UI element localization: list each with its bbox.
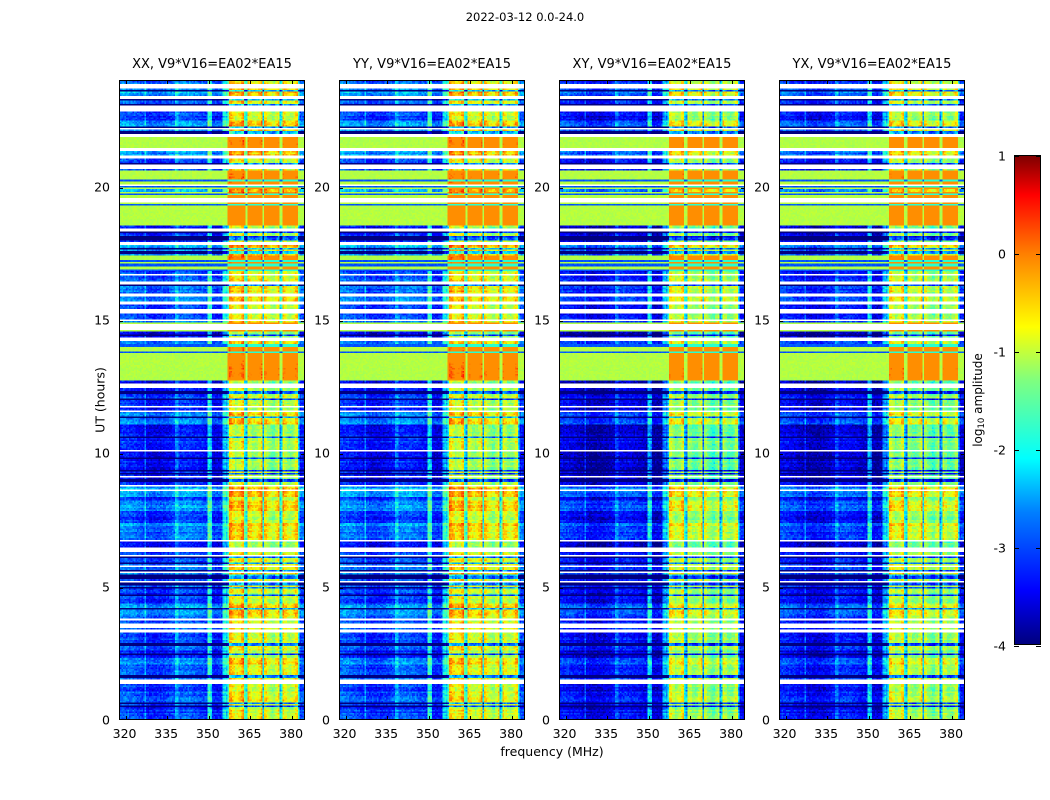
colorbar-tick-label: 0 [998, 247, 1006, 262]
x-tick-mark-top [607, 80, 608, 84]
y-tick-label: 10 [534, 446, 550, 461]
x-tick-mark-top [429, 80, 430, 84]
y-tick-mark [339, 321, 343, 322]
panel-yy[interactable]: YY, V9*V16=EA02*EA15 3203353503653800510… [339, 80, 525, 720]
y-tick-label: 20 [94, 179, 110, 194]
panel-xx[interactable]: XX, V9*V16=EA02*EA15 3203353503653800510… [119, 80, 305, 720]
y-tick-mark-right [521, 321, 525, 322]
colorbar-tick-label: 1 [998, 149, 1006, 164]
y-tick-mark [779, 588, 783, 589]
y-tick-mark [339, 588, 343, 589]
panel-title-yx: YX, V9*V16=EA02*EA15 [793, 57, 952, 72]
colorbar-tick-label: -2 [994, 443, 1006, 458]
y-tick-mark [779, 454, 783, 455]
y-tick-label: 20 [314, 179, 330, 194]
axes-xy[interactable] [559, 80, 745, 720]
colorbar-tick-label: -4 [994, 639, 1006, 654]
y-tick-label: 0 [542, 713, 550, 728]
y-tick-mark [779, 321, 783, 322]
y-tick-mark-right [521, 588, 525, 589]
x-tick-label: 380 [719, 726, 743, 741]
x-tick-label: 365 [458, 726, 482, 741]
y-tick-label: 20 [534, 179, 550, 194]
x-tick-mark-top [292, 80, 293, 84]
axes-xx[interactable] [119, 80, 305, 720]
x-tick-label: 320 [553, 726, 577, 741]
waterfall-image-yx [780, 81, 964, 719]
colorbar-tick-mark [1014, 254, 1019, 255]
x-tick-mark [649, 716, 650, 720]
y-tick-label: 15 [94, 313, 110, 328]
y-tick-mark-right [741, 321, 745, 322]
x-tick-label: 350 [856, 726, 880, 741]
x-tick-mark-top [690, 80, 691, 84]
colorbar-tick-label: -1 [994, 345, 1006, 360]
colorbar-tick-mark-right [1036, 254, 1041, 255]
x-tick-mark-top [346, 80, 347, 84]
y-tick-mark [559, 588, 563, 589]
colorbar-tick-mark [1014, 352, 1019, 353]
y-tick-label: 10 [314, 446, 330, 461]
x-tick-mark [952, 716, 953, 720]
x-tick-mark [387, 716, 388, 720]
waterfall-image-yy [340, 81, 524, 719]
colorbar-tick-mark-right [1036, 548, 1041, 549]
y-tick-mark-right [521, 188, 525, 189]
panel-yx[interactable]: YX, V9*V16=EA02*EA15 3203353503653800510… [779, 80, 965, 720]
y-tick-mark [119, 454, 123, 455]
x-tick-label: 365 [238, 726, 262, 741]
x-tick-mark-top [209, 80, 210, 84]
x-tick-mark-top [250, 80, 251, 84]
x-tick-label: 350 [636, 726, 660, 741]
y-tick-label: 0 [102, 713, 110, 728]
y-tick-label: 20 [754, 179, 770, 194]
colorbar-tick-mark [1014, 548, 1019, 549]
y-tick-mark [339, 188, 343, 189]
colorbar-tick-mark-right [1036, 646, 1041, 647]
x-tick-label: 350 [196, 726, 220, 741]
x-tick-mark-top [470, 80, 471, 84]
colorbar-label: log10 amplitude [971, 353, 987, 447]
y-axis-label: UT (hours) [93, 367, 108, 433]
y-tick-label: 10 [94, 446, 110, 461]
x-tick-mark [292, 716, 293, 720]
y-tick-mark [559, 321, 563, 322]
y-tick-label: 15 [534, 313, 550, 328]
colorbar-tick-label: -3 [994, 541, 1006, 556]
y-tick-mark [779, 188, 783, 189]
y-tick-mark-right [301, 454, 305, 455]
x-tick-mark-top [786, 80, 787, 84]
colorbar-tick-mark-right [1036, 352, 1041, 353]
x-tick-label: 320 [113, 726, 137, 741]
y-tick-mark-right [741, 454, 745, 455]
y-tick-mark-right [961, 454, 965, 455]
colorbar-label-tail: amplitude [971, 353, 985, 417]
x-tick-label: 365 [678, 726, 702, 741]
panel-title-xx: XX, V9*V16=EA02*EA15 [132, 57, 292, 72]
x-tick-label: 320 [773, 726, 797, 741]
x-tick-mark [827, 716, 828, 720]
y-tick-mark [119, 321, 123, 322]
x-tick-mark [429, 716, 430, 720]
x-tick-mark-top [910, 80, 911, 84]
x-tick-label: 365 [898, 726, 922, 741]
x-tick-mark-top [732, 80, 733, 84]
colorbar-tick-mark [1014, 156, 1019, 157]
colorbar-label-sub: 10 [977, 418, 987, 429]
colorbar-tick-mark [1014, 450, 1019, 451]
colorbar-tick-mark [1014, 646, 1019, 647]
y-tick-mark-right [301, 588, 305, 589]
y-tick-label: 10 [754, 446, 770, 461]
y-tick-label: 0 [762, 713, 770, 728]
x-tick-label: 335 [374, 726, 398, 741]
y-tick-label: 5 [762, 579, 770, 594]
x-tick-label: 335 [814, 726, 838, 741]
panel-xy[interactable]: XY, V9*V16=EA02*EA15 3203353503653800510… [559, 80, 745, 720]
x-tick-mark [167, 716, 168, 720]
colorbar-tick-mark-right [1036, 156, 1041, 157]
x-tick-mark [512, 716, 513, 720]
y-tick-mark-right [961, 321, 965, 322]
x-tick-label: 350 [416, 726, 440, 741]
x-tick-mark [470, 716, 471, 720]
x-tick-mark [250, 716, 251, 720]
x-tick-mark-top [827, 80, 828, 84]
y-tick-mark-right [961, 588, 965, 589]
y-tick-label: 15 [754, 313, 770, 328]
x-axis-label: frequency (MHz) [119, 744, 985, 759]
colorbar[interactable]: -4-3-2-101 [1014, 155, 1041, 645]
x-tick-mark-top [167, 80, 168, 84]
y-tick-mark-right [741, 588, 745, 589]
y-tick-mark [339, 454, 343, 455]
x-tick-mark [690, 716, 691, 720]
x-tick-mark [607, 716, 608, 720]
x-tick-mark-top [649, 80, 650, 84]
x-tick-label: 335 [154, 726, 178, 741]
axes-yx[interactable] [779, 80, 965, 720]
y-tick-label: 5 [542, 579, 550, 594]
y-tick-mark-right [301, 188, 305, 189]
x-tick-mark-top [126, 80, 127, 84]
y-tick-mark [119, 188, 123, 189]
x-tick-label: 320 [333, 726, 357, 741]
waterfall-image-xy [560, 81, 744, 719]
y-tick-mark [559, 454, 563, 455]
colorbar-tick-mark-right [1036, 450, 1041, 451]
x-tick-mark-top [869, 80, 870, 84]
x-tick-mark [126, 716, 127, 720]
x-tick-mark-top [952, 80, 953, 84]
colorbar-label-main: log [971, 428, 985, 446]
panel-title-xy: XY, V9*V16=EA02*EA15 [573, 57, 732, 72]
y-tick-mark-right [521, 454, 525, 455]
x-tick-mark [786, 716, 787, 720]
y-tick-mark [119, 588, 123, 589]
x-tick-mark [910, 716, 911, 720]
x-tick-mark [732, 716, 733, 720]
y-tick-mark-right [741, 188, 745, 189]
x-tick-mark-top [566, 80, 567, 84]
x-tick-mark [209, 716, 210, 720]
y-tick-mark-right [301, 321, 305, 322]
y-tick-label: 5 [322, 579, 330, 594]
x-tick-mark-top [512, 80, 513, 84]
x-tick-mark [869, 716, 870, 720]
x-tick-label: 335 [594, 726, 618, 741]
axes-yy[interactable] [339, 80, 525, 720]
y-tick-mark [559, 188, 563, 189]
x-tick-mark [346, 716, 347, 720]
figure-suptitle: 2022-03-12 0.0-24.0 [0, 10, 1050, 24]
y-tick-label: 0 [322, 713, 330, 728]
waterfall-image-xx [120, 81, 304, 719]
x-tick-mark-top [387, 80, 388, 84]
x-tick-label: 380 [499, 726, 523, 741]
panel-title-yy: YY, V9*V16=EA02*EA15 [353, 57, 511, 72]
x-tick-label: 380 [939, 726, 963, 741]
y-tick-label: 5 [102, 579, 110, 594]
y-tick-label: 15 [314, 313, 330, 328]
y-tick-mark-right [961, 188, 965, 189]
x-tick-label: 380 [279, 726, 303, 741]
x-tick-mark [566, 716, 567, 720]
